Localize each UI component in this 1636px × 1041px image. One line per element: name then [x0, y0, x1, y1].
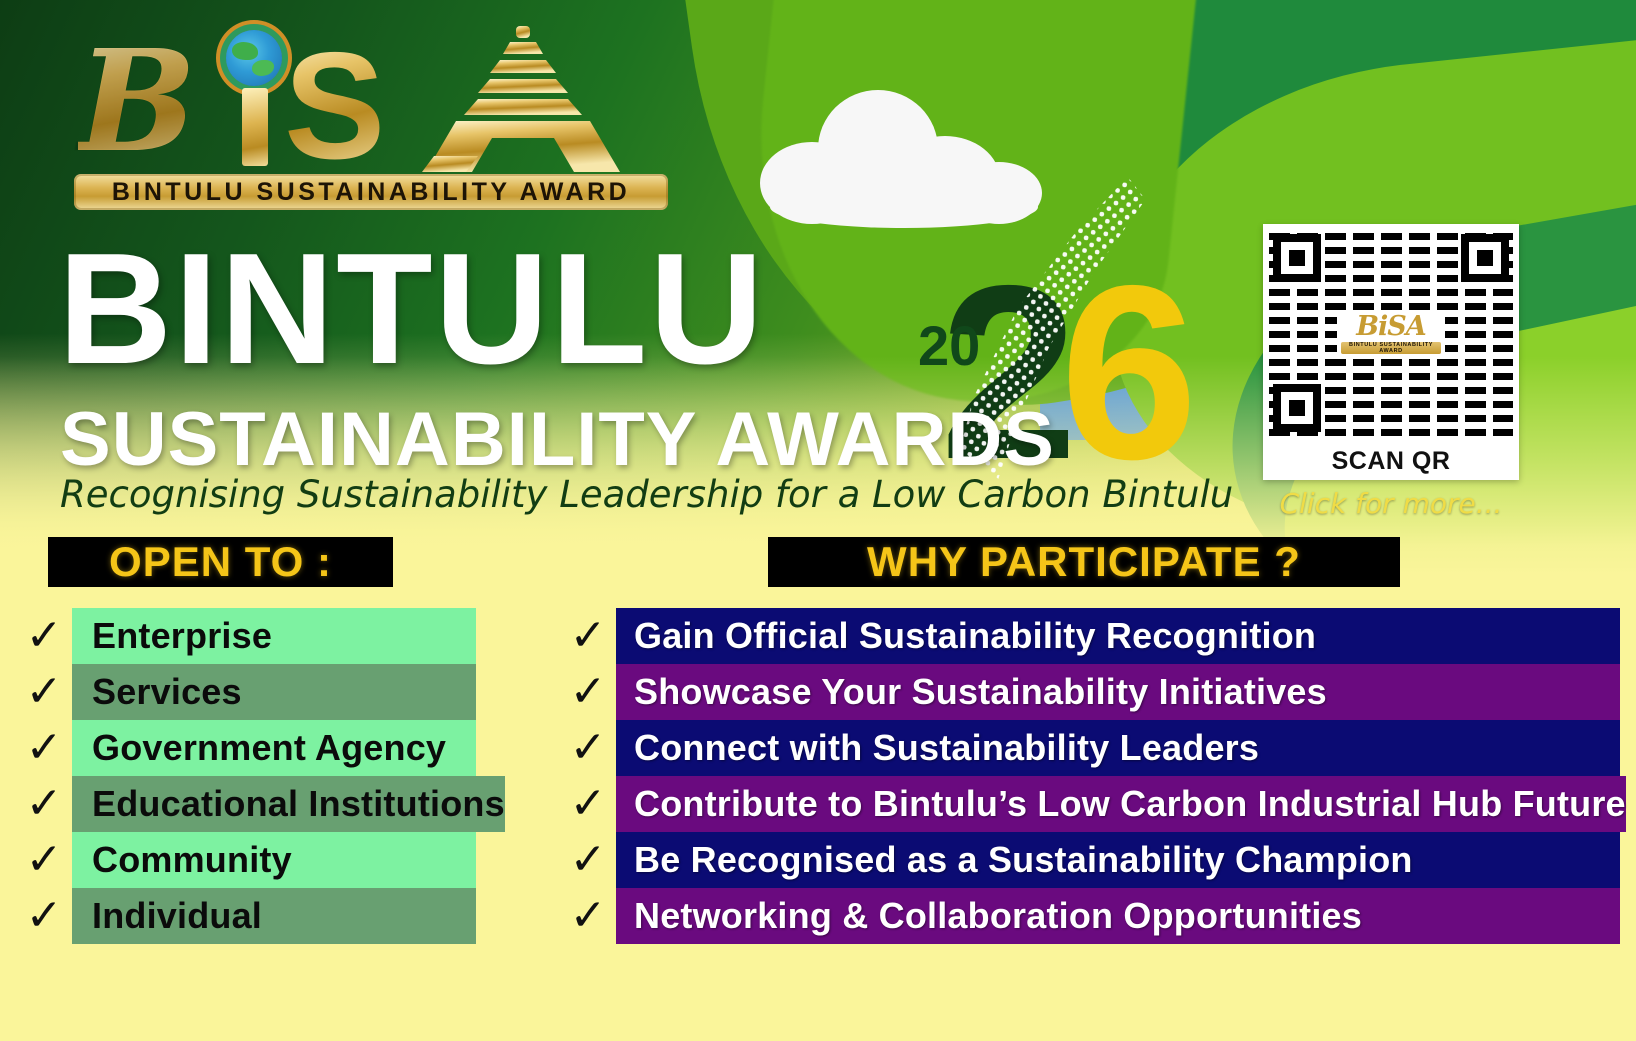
pagoda-tower-icon [394, 26, 654, 172]
check-icon: ✓ [560, 614, 616, 658]
tagline: Recognising Sustainability Leadership fo… [60, 476, 1233, 513]
logo-banner: BINTULU SUSTAINABILITY AWARD [74, 174, 668, 210]
qr-finder-top-right [1461, 234, 1509, 282]
logo-letter-i-stem [242, 88, 268, 166]
list-item-label: Connect with Sustainability Leaders [634, 727, 1259, 769]
list-item-label: Contribute to Bintulu’s Low Carbon Indus… [634, 783, 1626, 825]
list-item-bar: Networking & Collaboration Opportunities [616, 888, 1620, 944]
why-participate-banner-label: WHY PARTICIPATE ? [867, 538, 1301, 586]
check-icon: ✓ [16, 726, 72, 770]
page-title: BINTULU [58, 230, 765, 388]
list-item-label: Gain Official Sustainability Recognition [634, 615, 1316, 657]
year-prefix: 20 [918, 318, 980, 374]
year-digit-6: 6 [1060, 248, 1198, 496]
list-item-bar: Educational Institutions [72, 776, 505, 832]
list-item: ✓ Networking & Collaboration Opportuniti… [560, 888, 1620, 944]
list-item-bar: Connect with Sustainability Leaders [616, 720, 1620, 776]
list-item-label: Services [92, 671, 242, 713]
check-icon: ✓ [560, 782, 616, 826]
list-item-bar: Individual [72, 888, 476, 944]
list-item: ✓ Government Agency [16, 720, 476, 776]
click-for-more-link[interactable]: Click for more... [1263, 487, 1519, 520]
check-icon: ✓ [16, 782, 72, 826]
globe-icon [226, 30, 282, 86]
list-item: ✓ Showcase Your Sustainability Initiativ… [560, 664, 1620, 720]
list-item: ✓ Community [16, 832, 476, 888]
qr-code-card[interactable]: BiSA BINTULU SUSTAINABILITY AWARD SCAN Q… [1263, 224, 1519, 480]
qr-logo-marks: BiSA [1356, 313, 1426, 340]
why-participate-banner: WHY PARTICIPATE ? [768, 537, 1400, 587]
list-item: ✓ Services [16, 664, 476, 720]
logo-marks: B S [72, 22, 692, 172]
list-item-bar: Government Agency [72, 720, 476, 776]
list-item: ✓ Educational Institutions [16, 776, 476, 832]
list-item: ✓ Be Recognised as a Sustainability Cham… [560, 832, 1620, 888]
qr-caption: SCAN QR [1263, 447, 1519, 476]
list-item-label: Enterprise [92, 615, 272, 657]
open-to-list: ✓ Enterprise ✓ Services ✓ Government Age… [16, 608, 476, 944]
list-item: ✓ Connect with Sustainability Leaders [560, 720, 1620, 776]
check-icon: ✓ [16, 614, 72, 658]
qr-logo-band-text: BINTULU SUSTAINABILITY AWARD [1341, 342, 1441, 354]
check-icon: ✓ [16, 670, 72, 714]
check-icon: ✓ [560, 894, 616, 938]
list-item-bar: Showcase Your Sustainability Initiatives [616, 664, 1620, 720]
logo-letter-s: S [284, 30, 381, 182]
why-participate-list: ✓ Gain Official Sustainability Recogniti… [560, 608, 1620, 944]
logo-letter-b: B [78, 32, 196, 172]
list-item-label: Government Agency [92, 727, 446, 769]
list-item-label: Educational Institutions [92, 783, 505, 825]
check-icon: ✓ [16, 894, 72, 938]
list-item-bar: Services [72, 664, 476, 720]
list-item-bar: Enterprise [72, 608, 476, 664]
qr-code-image[interactable]: BiSA BINTULU SUSTAINABILITY AWARD [1269, 230, 1513, 436]
list-item-bar: Gain Official Sustainability Recognition [616, 608, 1620, 664]
page-subtitle: SUSTAINABILITY AWARDS [60, 402, 1055, 478]
open-to-banner: OPEN TO : [48, 537, 393, 587]
bisa-logo: B S [72, 22, 692, 217]
list-item-bar: Contribute to Bintulu’s Low Carbon Indus… [616, 776, 1626, 832]
list-item: ✓ Individual [16, 888, 476, 944]
list-item-label: Individual [92, 895, 262, 937]
qr-finder-bottom-left [1273, 384, 1321, 432]
qr-finder-top-left [1273, 234, 1321, 282]
check-icon: ✓ [16, 838, 72, 882]
list-item: ✓ Gain Official Sustainability Recogniti… [560, 608, 1620, 664]
open-to-banner-label: OPEN TO : [109, 538, 332, 586]
list-item-bar: Community [72, 832, 476, 888]
list-item-label: Showcase Your Sustainability Initiatives [634, 671, 1327, 713]
poster-canvas: B S [0, 0, 1636, 1041]
logo-banner-text: BINTULU SUSTAINABILITY AWARD [112, 178, 630, 207]
list-item-label: Networking & Collaboration Opportunities [634, 895, 1362, 937]
list-item: ✓ Contribute to Bintulu’s Low Carbon Ind… [560, 776, 1620, 832]
check-icon: ✓ [560, 726, 616, 770]
check-icon: ✓ [560, 670, 616, 714]
list-item-label: Community [92, 839, 292, 881]
list-item: ✓ Enterprise [16, 608, 476, 664]
list-item-label: Be Recognised as a Sustainability Champi… [634, 839, 1413, 881]
list-item-bar: Be Recognised as a Sustainability Champi… [616, 832, 1620, 888]
qr-embedded-logo: BiSA BINTULU SUSTAINABILITY AWARD [1337, 310, 1445, 356]
check-icon: ✓ [560, 838, 616, 882]
